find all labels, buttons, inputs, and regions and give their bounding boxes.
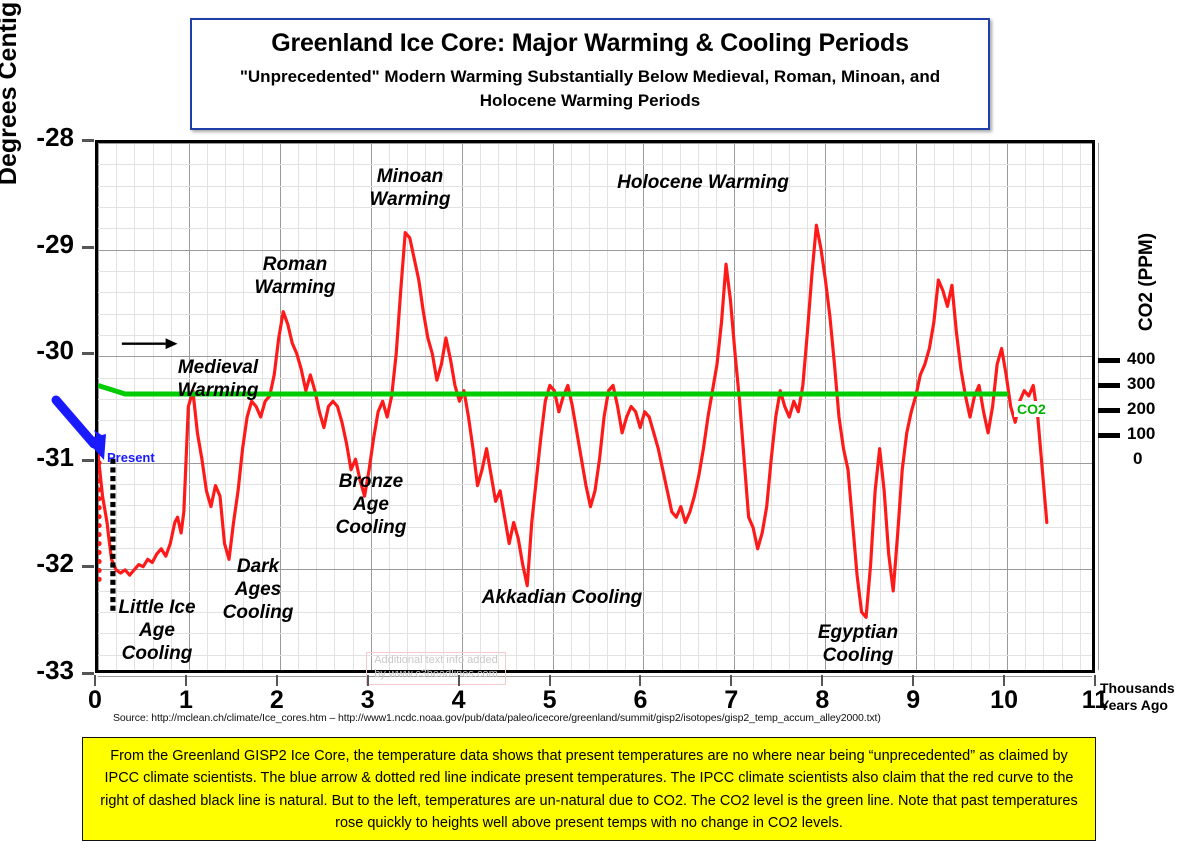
y-axis-label: Degrees Centigrade [0,0,23,232]
page-subtitle: "Unprecedented" Modern Warming Substanti… [192,65,988,113]
x-axis-tick-label: 2 [255,686,299,715]
x-axis-tick-label: 8 [800,686,844,715]
annotation-dark-ages-cooling: Dark Ages Cooling [203,555,313,625]
x-axis-tick-mark [639,675,641,686]
y-axis-tick-mark [82,352,94,355]
y-axis-tick-label: -30 [12,335,74,366]
x-axis-tick-mark [912,675,914,686]
annotation-bronze-age-cooling: Bronze Age Cooling [316,470,426,540]
co2-series-label: CO2 [1014,401,1049,417]
x-axis-tick-mark [730,675,732,686]
co2-axis-tick-label: 100 [1127,424,1155,444]
annotation-minoan-warming: Minoan Warming [345,165,475,211]
annotation-holocene-warming: Holocene Warming [588,171,818,194]
x-axis-tick-label: 5 [528,686,572,715]
y-axis-tick-mark [82,672,94,675]
x-axis-tick-label: 4 [437,686,481,715]
y-axis-tick-mark [82,459,94,462]
page-title: Greenland Ice Core: Major Warming & Cool… [192,29,988,58]
chart-plot-area: Medieval Warming Roman Warming Minoan Wa… [95,140,1095,673]
x-axis-tick-mark [1003,675,1005,686]
co2-axis-tick-label: 0 [1133,449,1142,469]
present-arrow-right [122,338,178,349]
x-axis-unit-label: Thousands Years Ago [1100,680,1179,714]
y-axis-tick-mark [82,139,94,142]
x-axis-tick-mark [1094,675,1096,686]
annotation-little-ice-age-cooling: Little Ice Age Cooling [96,596,218,666]
x-axis-tick-label: 9 [891,686,935,715]
x-axis-tick-mark [549,675,551,686]
x-axis-tick-mark [94,675,96,686]
x-axis-tick-label: 6 [618,686,662,715]
co2-axis-tick-label: 300 [1127,374,1155,394]
annotation-medieval-warming: Medieval Warming [153,356,283,402]
x-axis-tick-mark [458,675,460,686]
gridline-vertical [1098,143,1099,670]
x-axis-tick-label: 7 [709,686,753,715]
co2-axis-tick-mark [1098,408,1120,413]
present-dashed-black-line [110,459,115,611]
y-axis-tick-mark [82,246,94,249]
y-axis-tick-mark [82,565,94,568]
y-axis-tick-label: -31 [12,442,74,473]
gridline-horizontal [98,676,1092,677]
annotation-egyptian-cooling: Egyptian Cooling [793,621,923,667]
x-axis-tick-label: 0 [73,686,117,715]
x-axis-tick-mark [367,675,369,686]
x-axis-tick-label: 3 [346,686,390,715]
y-axis-tick-label: -33 [12,655,74,686]
co2-axis-tick-mark [1098,358,1120,363]
co2-axis-tick-label: 200 [1127,399,1155,419]
co2-axis-label: CO2 (PPM) [1136,202,1158,362]
watermark: Additional text info added by www.c3head… [366,652,506,685]
title-box: Greenland Ice Core: Major Warming & Cool… [190,18,990,130]
y-axis-tick-label: -32 [12,548,74,579]
annotation-akkadian-cooling: Akkadian Cooling [447,586,677,609]
caption-box: From the Greenland GISP2 Ice Core, the t… [82,737,1096,841]
co2-axis-tick-mark [1098,383,1120,388]
x-axis-tick-mark [185,675,187,686]
source-citation: Source: http://mclean.ch/climate/Ice_cor… [113,712,881,724]
y-axis-tick-label: -29 [12,229,74,260]
x-axis-tick-mark [821,675,823,686]
annotation-roman-warming: Roman Warming [230,253,360,299]
co2-axis-tick-mark [1098,433,1120,438]
x-axis-tick-mark [276,675,278,686]
x-axis-tick-label: 1 [164,686,208,715]
x-axis-tick-label: 10 [982,686,1026,715]
